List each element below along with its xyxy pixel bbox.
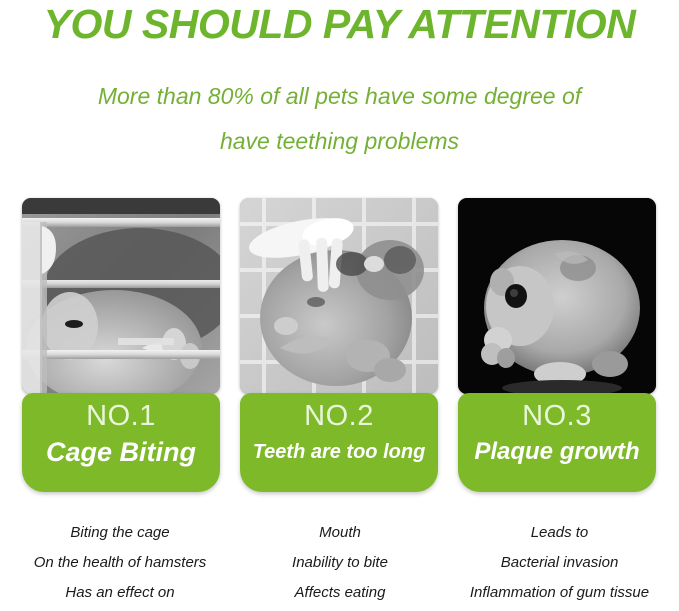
card-1-label-panel: NO.1 Cage Biting: [22, 393, 220, 492]
card-no-3[interactable]: NO.3 Plaque growth: [458, 198, 656, 494]
page-title: YOU SHOULD PAY ATTENTION: [0, 1, 679, 47]
caption-3-line-1: Leads to: [440, 518, 679, 548]
caption-1-line-1: Biting the cage: [0, 518, 240, 548]
caption-column-2: Mouth Inability to bite Affects eating: [240, 518, 440, 608]
subtitle-line-2: have teething problems: [0, 119, 679, 164]
caption-2-line-2: Inability to bite: [240, 548, 440, 578]
caption-2-line-3: Affects eating: [240, 578, 440, 608]
card-2-label-panel: NO.2 Teeth are too long: [240, 393, 438, 492]
subtitle: More than 80% of all pets have some degr…: [0, 74, 679, 164]
caption-2-line-1: Mouth: [240, 518, 440, 548]
card-no-2[interactable]: NO.2 Teeth are too long: [240, 198, 438, 494]
card-3-label-panel: NO.3 Plaque growth: [458, 393, 656, 492]
captions-row: Biting the cage On the health of hamster…: [0, 518, 679, 611]
caption-1-line-3: Has an effect on: [0, 578, 240, 608]
cards-row: NO.1 Cage Biting: [22, 198, 657, 494]
hamster-biting-cage-photo: [22, 198, 220, 394]
caption-column-3: Leads to Bacterial invasion Inflammation…: [440, 518, 679, 608]
card-1-number: NO.1: [22, 399, 220, 433]
poster-root: YOU SHOULD PAY ATTENTION More than 80% o…: [0, 0, 679, 611]
card-3-number: NO.3: [458, 399, 656, 433]
subtitle-line-1: More than 80% of all pets have some degr…: [0, 74, 679, 119]
hamster-plaque-photo: [458, 198, 656, 394]
caption-1-line-2: On the health of hamsters: [0, 548, 240, 578]
caption-column-1: Biting the cage On the health of hamster…: [0, 518, 240, 608]
card-no-1[interactable]: NO.1 Cage Biting: [22, 198, 220, 494]
card-3-title: Plaque growth: [458, 436, 656, 468]
caption-3-line-3: Inflammation of gum tissue: [440, 578, 679, 608]
caption-3-line-2: Bacterial invasion: [440, 548, 679, 578]
card-2-title: Teeth are too long: [240, 436, 438, 468]
card-1-title: Cage Biting: [22, 436, 220, 468]
card-2-number: NO.2: [240, 399, 438, 433]
hamster-long-teeth-photo: [240, 198, 438, 394]
